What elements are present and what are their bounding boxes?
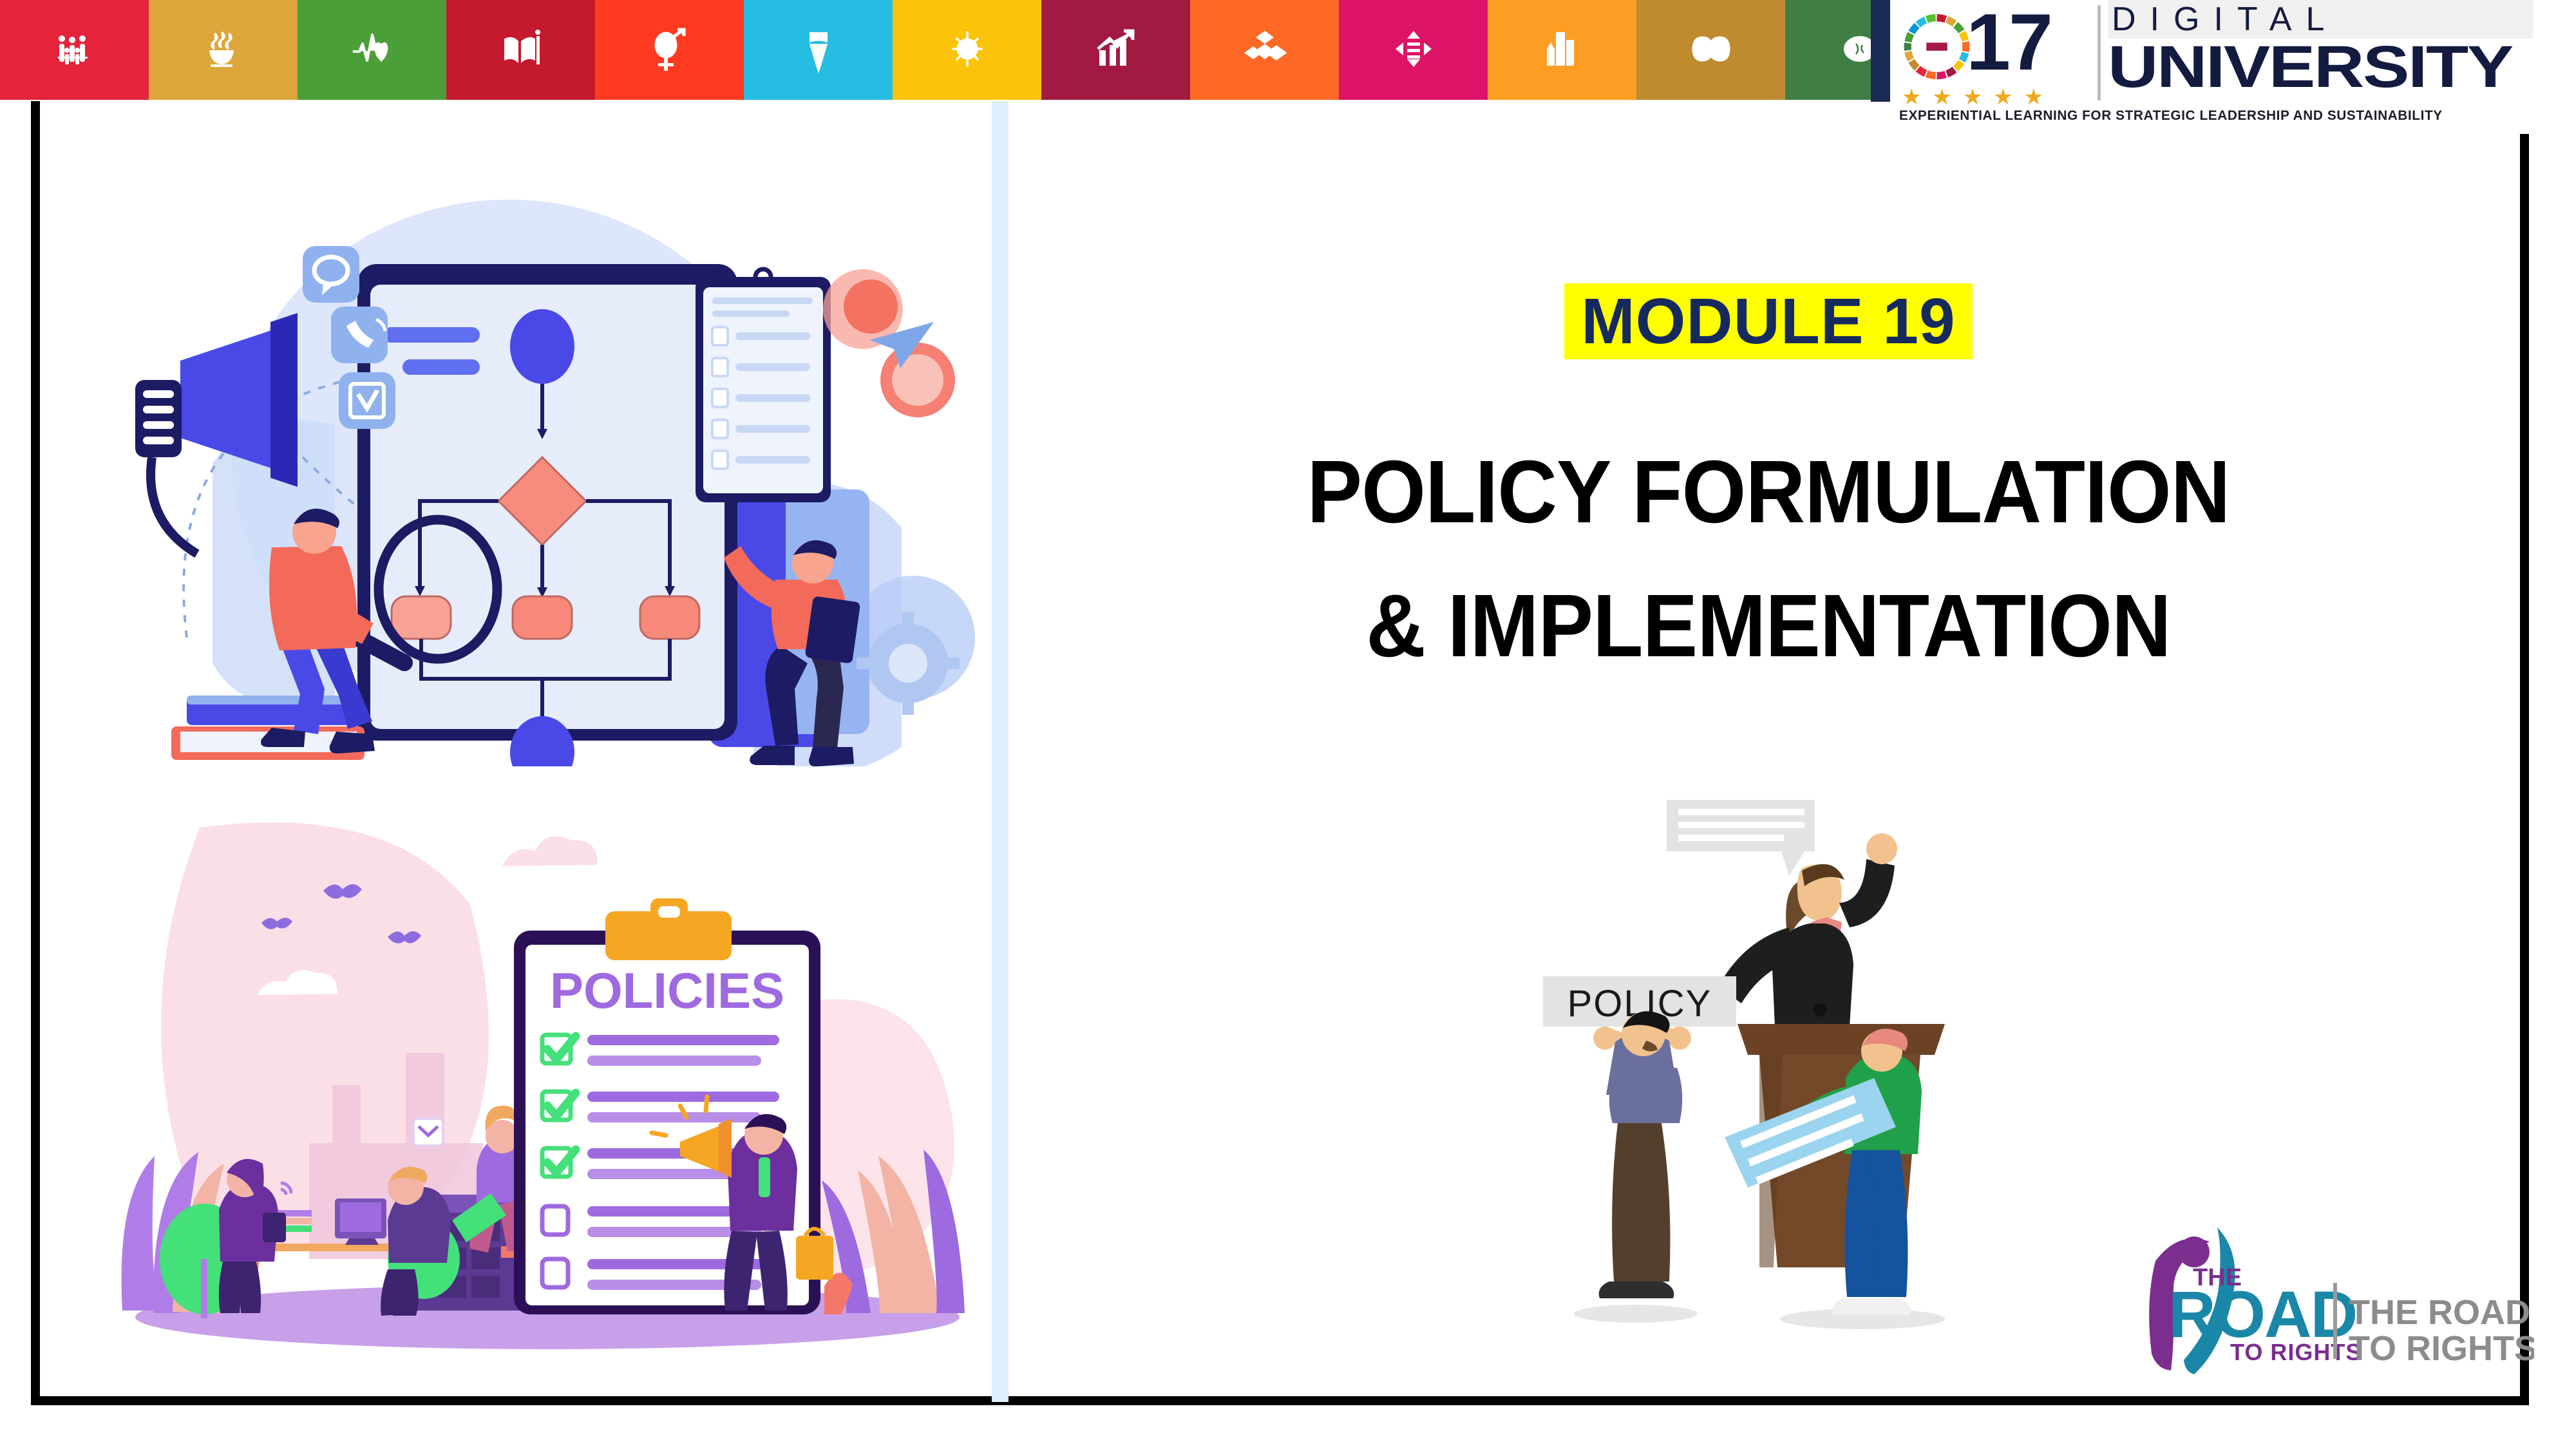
star-icon: ★ bbox=[2024, 86, 2043, 109]
sdg-goal-9-cell bbox=[1190, 0, 1339, 100]
sdg-goal-3-cell bbox=[298, 0, 446, 100]
module-badge: MODULE 19 bbox=[1564, 283, 1972, 359]
star-icon: ★ bbox=[1963, 86, 1982, 109]
zero-hunger-bowl-icon bbox=[200, 23, 247, 77]
gender-equality-symbol-icon bbox=[647, 23, 693, 77]
sdg-goal-1-cell bbox=[0, 0, 149, 100]
logo-stars: ★ ★ ★ ★ ★ bbox=[1902, 86, 2043, 109]
logo-tagline: EXPERIENTIAL LEARNING FOR STRATEGIC LEAD… bbox=[1899, 108, 2550, 124]
logo-navy-tab bbox=[1871, 0, 1890, 102]
sdg-goal-12-cell bbox=[1636, 0, 1785, 100]
policies-checklist-illustration: POLICIES bbox=[97, 808, 979, 1362]
industry-innovation-cubes-icon bbox=[1242, 23, 1288, 77]
no-poverty-people-icon bbox=[52, 23, 98, 77]
reduced-inequalities-arrows-icon bbox=[1390, 23, 1437, 77]
sustainable-cities-buildings-icon bbox=[1539, 23, 1586, 77]
rtr-word-to-rights: TO RIGHTS bbox=[2230, 1339, 2362, 1365]
good-health-heartbeat-icon bbox=[349, 23, 395, 77]
logo-word-university: UNIVERSITY bbox=[2108, 39, 2576, 95]
quality-education-book-icon bbox=[498, 23, 544, 77]
logo-number-17: 17 bbox=[1966, 4, 2051, 81]
module-badge-container: MODULE 19 bbox=[1009, 283, 2528, 359]
star-icon: ★ bbox=[1932, 86, 1951, 109]
clean-water-glass-icon bbox=[795, 23, 842, 77]
responsible-consumption-infinity-icon bbox=[1688, 23, 1734, 77]
sdg-wheel-icon bbox=[1897, 6, 1977, 87]
sdg17-mark: 17 ★ ★ ★ ★ ★ bbox=[1897, 4, 2083, 123]
slide-center-divider bbox=[992, 101, 1009, 1402]
logo-wordmark: DIGITAL UNIVERSITY bbox=[2108, 0, 2559, 95]
sdg-goal-4-cell bbox=[446, 0, 595, 100]
policy-flowchart-illustration bbox=[109, 187, 985, 766]
policy-speech-illustration: POLICY bbox=[1533, 773, 1984, 1352]
sdg-goal-10-cell bbox=[1339, 0, 1488, 100]
slide-title: POLICY FORMULATION & IMPLEMENTATION bbox=[1062, 425, 2476, 693]
slide-title-line-2: & IMPLEMENTATION bbox=[1062, 559, 2476, 693]
sdg-goal-7-cell bbox=[893, 0, 1041, 100]
sdg-goal-8-cell bbox=[1041, 0, 1190, 100]
star-icon: ★ bbox=[1993, 86, 2012, 109]
star-icon: ★ bbox=[1902, 86, 1921, 109]
decent-work-growth-chart-icon bbox=[1093, 23, 1139, 77]
rtr-sidebar-line-1: THE ROAD bbox=[2349, 1293, 2530, 1332]
policies-heading: POLICIES bbox=[550, 962, 784, 1019]
affordable-energy-sun-icon bbox=[944, 23, 990, 77]
road-to-rights-logo: THE ROAD TO RIGHTS THE ROAD TO RIGHTS bbox=[2096, 1224, 2534, 1378]
slide-title-line-1: POLICY FORMULATION bbox=[1062, 425, 2476, 559]
sdg-goal-11-cell bbox=[1488, 0, 1636, 100]
logo-divider-rule bbox=[2098, 5, 2101, 100]
rtr-sidebar-line-2: TO RIGHTS bbox=[2349, 1329, 2534, 1368]
sdg-goal-2-cell bbox=[149, 0, 298, 100]
sdg-goal-5-cell bbox=[595, 0, 744, 100]
sdg-goal-6-cell bbox=[744, 0, 893, 100]
logo-word-digital: DIGITAL bbox=[2108, 0, 2533, 39]
digital-university-logo: 17 ★ ★ ★ ★ ★ DIGITAL UNIVERSITY EXPERIEN… bbox=[1871, 0, 2576, 134]
